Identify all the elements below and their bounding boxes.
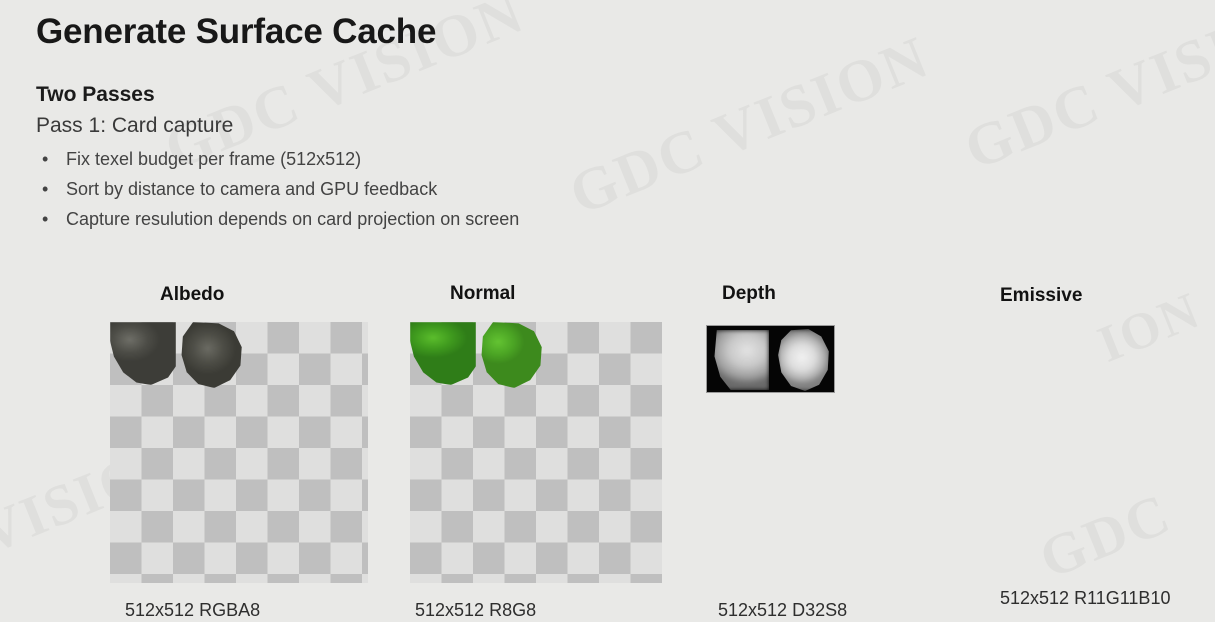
list-item: • Capture resulution depends on card pro…: [36, 204, 519, 234]
albedo-card-rock-1: [110, 322, 176, 385]
bullet-list: • Fix texel budget per frame (512x512) •…: [36, 144, 519, 234]
normal-texture-panel: [410, 322, 662, 583]
slide-root: Generate Surface Cache Two Passes Pass 1…: [0, 0, 1215, 622]
bullet-dot-icon: •: [42, 174, 48, 204]
list-item: • Sort by distance to camera and GPU fee…: [36, 174, 519, 204]
section-heading: Two Passes: [36, 83, 155, 107]
column-caption-emissive: 512x512 R11G11B10: [1000, 588, 1170, 609]
column-header-emissive: Emissive: [1000, 285, 1082, 307]
list-item: • Fix texel budget per frame (512x512): [36, 144, 519, 174]
list-item-label: Sort by distance to camera and GPU feedb…: [66, 179, 437, 199]
depth-texture-panel: [706, 325, 835, 393]
bullet-dot-icon: •: [42, 144, 48, 174]
bullet-dot-icon: •: [42, 204, 48, 234]
list-item-label: Capture resulution depends on card proje…: [66, 209, 519, 229]
column-caption-depth: 512x512 D32S8: [718, 600, 847, 621]
normal-card-rock-1: [410, 322, 476, 385]
page-title: Generate Surface Cache: [36, 12, 436, 52]
albedo-texture-panel: [110, 322, 368, 583]
column-caption-albedo: 512x512 RGBA8: [125, 600, 260, 621]
column-caption-normal: 512x512 R8G8: [415, 600, 536, 621]
albedo-card-rock-2: [179, 322, 243, 388]
depth-card-rock-1: [711, 330, 769, 390]
normal-card-rock-2: [479, 322, 543, 388]
column-header-normal: Normal: [450, 283, 515, 305]
column-header-albedo: Albedo: [160, 284, 224, 306]
pass-label: Pass 1: Card capture: [36, 114, 233, 138]
depth-card-rock-2: [777, 329, 831, 391]
list-item-label: Fix texel budget per frame (512x512): [66, 149, 361, 169]
column-header-depth: Depth: [722, 283, 776, 305]
